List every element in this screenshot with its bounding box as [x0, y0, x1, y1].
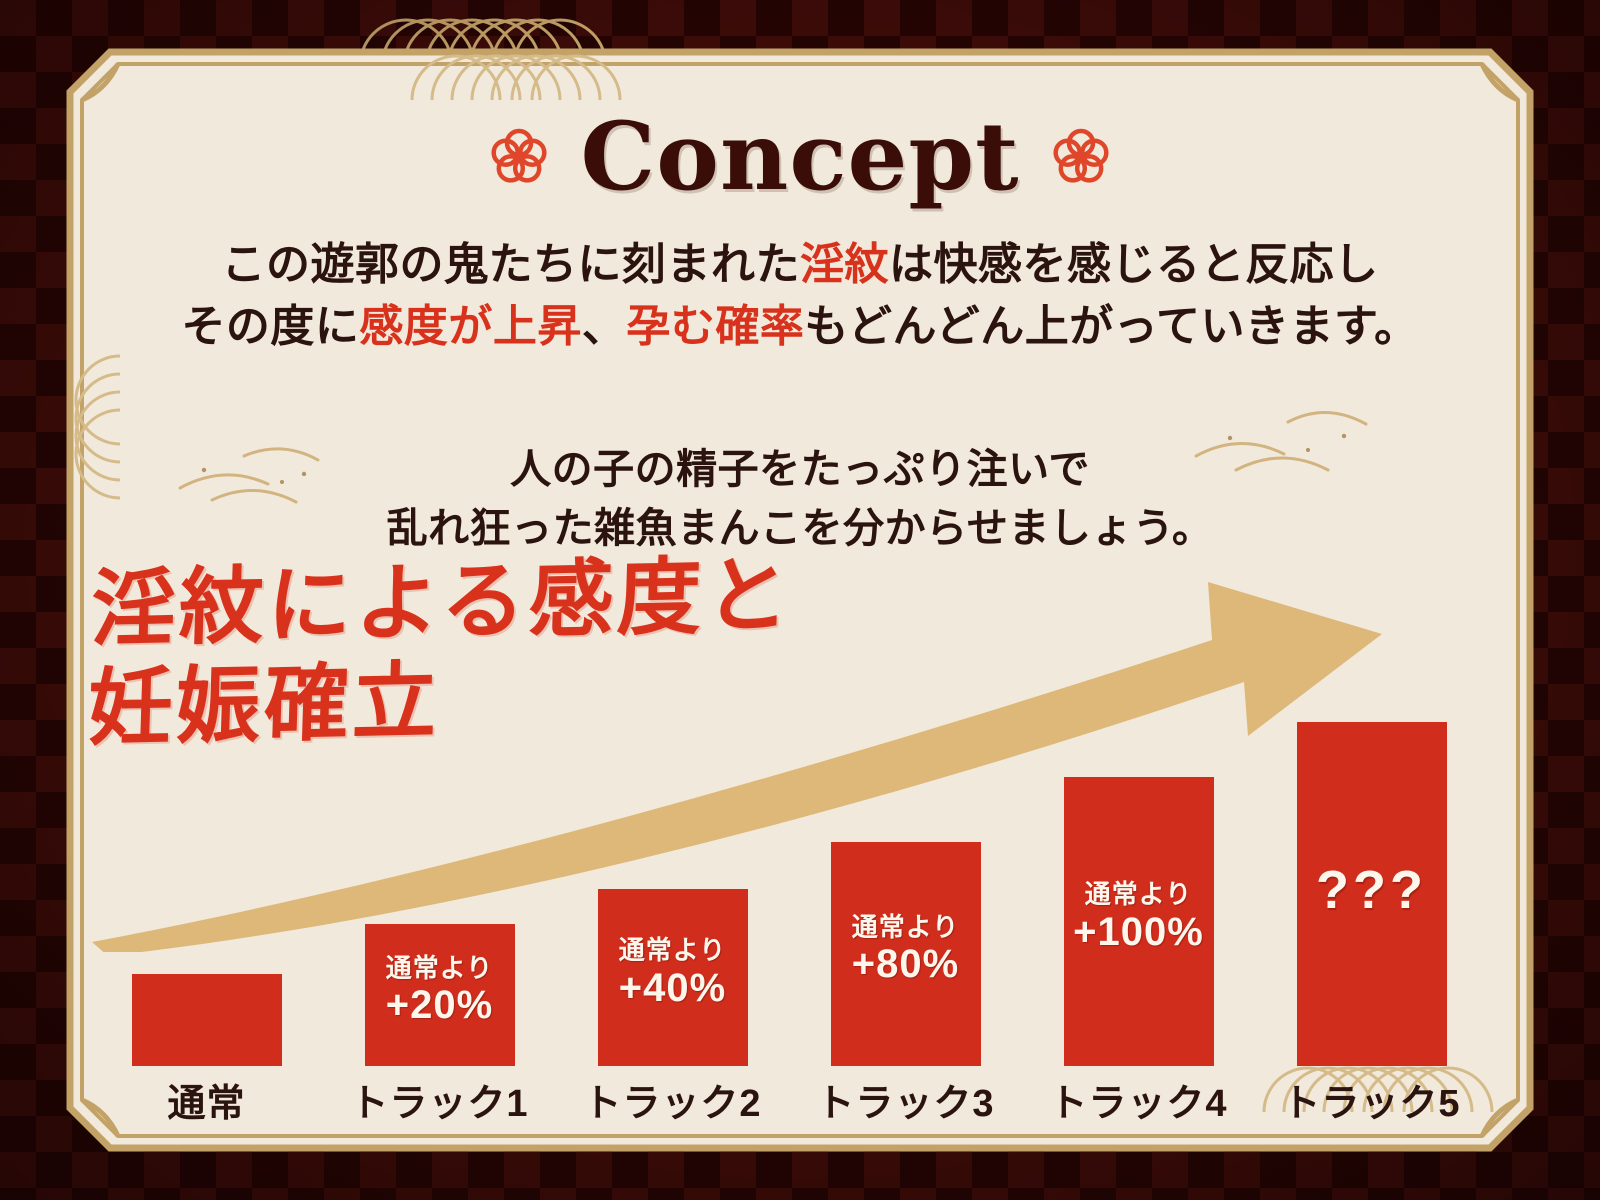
- plum-blossom-icon: [488, 126, 550, 188]
- page-title: Concept: [580, 110, 1019, 204]
- growth-bar-chart: 通常より +20% 通常より +40% 通常より +80%: [72, 522, 1528, 1142]
- bar-track4: 通常より +100%: [1064, 777, 1214, 1066]
- bar-column-1: 通常より +20%: [323, 924, 556, 1066]
- bar-group: 通常より +20% 通常より +40% 通常より +80%: [90, 686, 1490, 1066]
- bar-value-label: +100%: [1073, 909, 1204, 955]
- category-label-3: トラック3: [789, 1072, 1022, 1130]
- category-label-4: トラック4: [1022, 1072, 1255, 1130]
- bar-normal: [132, 974, 282, 1066]
- bar-sublabel: 通常より: [386, 954, 493, 983]
- bar-sublabel: 通常より: [852, 913, 959, 942]
- bar-track3: 通常より +80%: [831, 842, 981, 1066]
- bar-track1: 通常より +20%: [365, 924, 515, 1066]
- bar-value-label: +40%: [619, 965, 726, 1011]
- text-run: 、: [582, 302, 627, 351]
- bar-column-0: [90, 974, 323, 1066]
- bar-column-5: ???: [1255, 722, 1488, 1066]
- category-axis-labels: 通常 トラック1 トラック2 トラック3 トラック4 トラック5: [90, 1072, 1490, 1130]
- content-panel: Concept この遊郭の鬼たちに刻まれた淫紋は快感を感じると反応し その度に感…: [72, 52, 1528, 1148]
- highlight-run: 淫紋: [800, 240, 889, 289]
- bar-sublabel: 通常より: [1085, 880, 1192, 909]
- bar-unknown-label: ???: [1316, 859, 1427, 921]
- text-run: その度に: [181, 302, 359, 351]
- text-run: は快感を感じると反応し: [889, 240, 1379, 289]
- bar-column-2: 通常より +40%: [556, 889, 789, 1066]
- text-run: この遊郭の鬼たちに刻まれた: [222, 240, 801, 289]
- category-label-1: トラック1: [323, 1072, 556, 1130]
- category-label-0: 通常: [90, 1072, 323, 1130]
- bar-value-label: +80%: [852, 941, 959, 987]
- intro-line-1: この遊郭の鬼たちに刻まれた淫紋は快感を感じると反応し: [72, 234, 1528, 296]
- text-run: もどんどん上がっていきます。: [804, 302, 1418, 351]
- bar-sublabel: 通常より: [619, 936, 726, 965]
- page-title-row: Concept: [72, 110, 1528, 204]
- intro-line-2: その度に感度が上昇、孕む確率もどんどん上がっていきます。: [72, 296, 1528, 358]
- plum-blossom-icon: [1050, 126, 1112, 188]
- poster-background: Concept この遊郭の鬼たちに刻まれた淫紋は快感を感じると反応し その度に感…: [0, 0, 1600, 1200]
- bar-track2: 通常より +40%: [598, 889, 748, 1066]
- bar-track5: ???: [1297, 722, 1447, 1066]
- highlight-run: 孕む確率: [626, 302, 804, 351]
- category-label-2: トラック2: [556, 1072, 789, 1130]
- intro2-line-1: 人の子の精子をたっぷり注いで: [72, 440, 1528, 499]
- highlight-run: 感度が上昇: [359, 302, 582, 351]
- category-label-5: トラック5: [1255, 1072, 1488, 1130]
- intro-paragraph-1: この遊郭の鬼たちに刻まれた淫紋は快感を感じると反応し その度に感度が上昇、孕む確…: [72, 234, 1528, 359]
- bar-value-label: +20%: [386, 982, 493, 1028]
- bar-column-4: 通常より +100%: [1022, 777, 1255, 1066]
- bar-column-3: 通常より +80%: [789, 842, 1022, 1066]
